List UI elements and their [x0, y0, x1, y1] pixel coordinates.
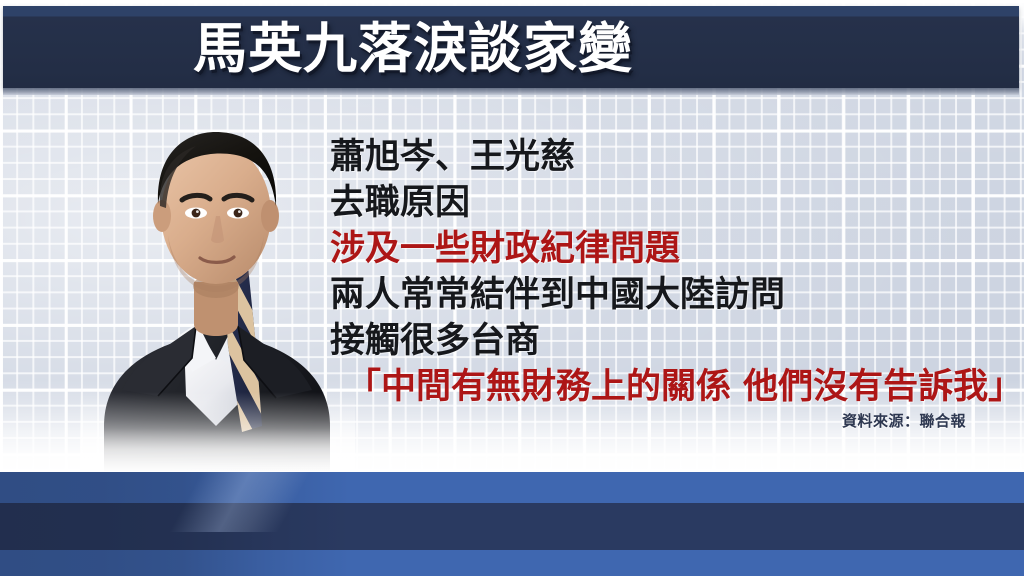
- bottom-bar-navy: [0, 503, 1024, 550]
- headline-text-block: 蕭旭岑、王光慈 去職原因 涉及一些財政紀律問題 兩人常常結伴到中國大陸訪問 接觸…: [330, 134, 1000, 410]
- text-line-1: 蕭旭岑、王光慈: [330, 134, 1000, 180]
- bottom-bar-blue-upper: [0, 472, 1024, 503]
- portrait-illustration: [96, 96, 336, 496]
- ear-right: [261, 200, 279, 232]
- news-lower-third-graphic: 馬英九落淚談家變: [0, 0, 1024, 576]
- page-title: 馬英九落淚談家變: [193, 18, 633, 80]
- portrait-photo: [96, 96, 336, 496]
- eye-glint-right: [238, 210, 241, 213]
- eye-glint-left: [196, 210, 199, 213]
- text-line-6-quote: 「中間有無財務上的關係 他們沒有告訴我」: [346, 364, 1000, 410]
- bottom-bar-blue-lower: [0, 550, 1024, 576]
- source-credit: 資料來源：聯合報: [842, 410, 966, 431]
- text-line-3-highlight: 涉及一些財政紀律問題: [330, 226, 1000, 272]
- text-line-2: 去職原因: [330, 180, 1000, 226]
- text-line-5: 接觸很多台商: [330, 318, 1000, 364]
- iris-right: [234, 209, 243, 218]
- iris-left: [192, 209, 201, 218]
- title-banner-underline: [3, 88, 1019, 95]
- text-line-4: 兩人常常結伴到中國大陸訪問: [330, 272, 1000, 318]
